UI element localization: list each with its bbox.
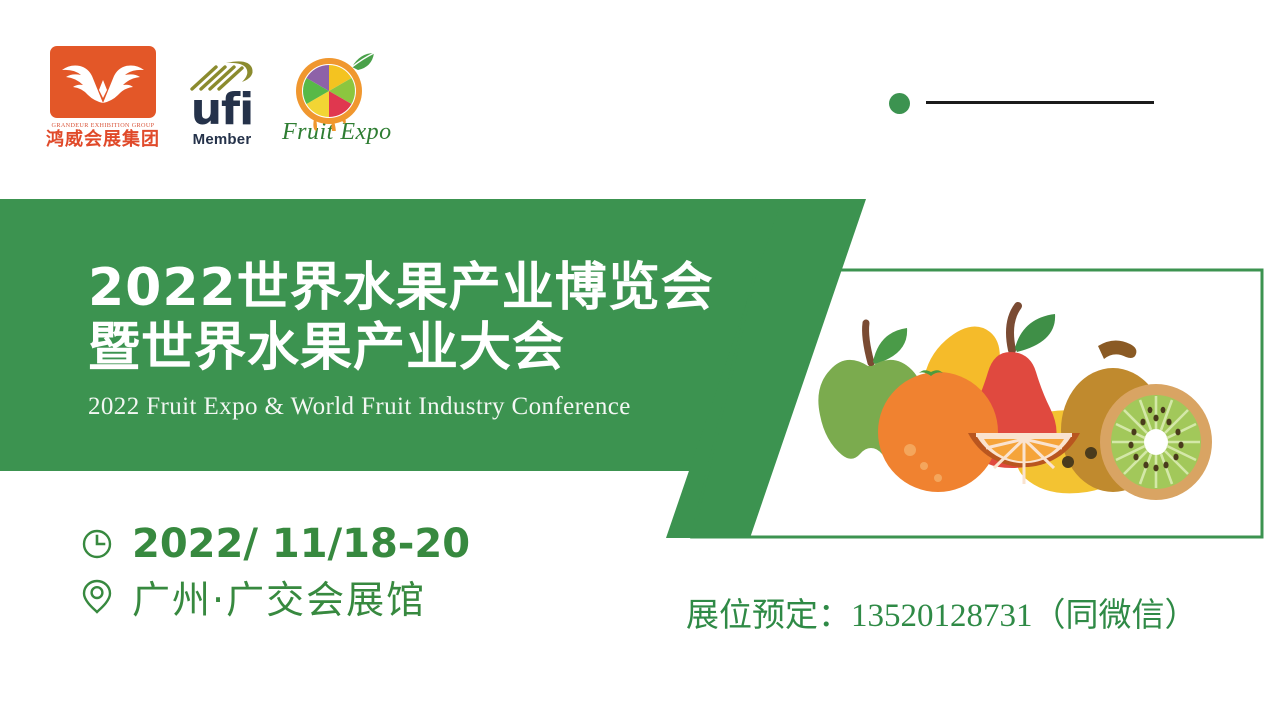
fruit-expo-logo: Fruit Expo [282, 51, 390, 150]
grandeur-chinese-name: 鸿威会展集团 [44, 130, 162, 150]
title-block: 2022世界水果产业博览会 暨世界水果产业大会 2022 Fruit Expo … [88, 258, 728, 421]
title-line-2: 暨世界水果产业大会 [88, 318, 728, 378]
title-english: 2022 Fruit Expo & World Fruit Industry C… [88, 393, 728, 421]
title-line-1: 2022世界水果产业博览会 [88, 258, 728, 318]
fruit-frame [690, 268, 1264, 539]
event-venue-row: 广州·广交会展馆 [80, 570, 550, 622]
clock-icon [80, 527, 114, 561]
kiwi-half-illustration [1100, 384, 1212, 500]
location-pin-icon [80, 579, 114, 613]
ufi-wordmark: ufi [180, 92, 264, 128]
fruit-assortment-illustration [810, 290, 1230, 520]
ufi-member-logo: ufi Member [180, 58, 264, 150]
event-date-row: 2022/ 11/18-20 [80, 518, 550, 570]
fruit-expo-wheel-icon [282, 51, 390, 129]
grandeur-wing-mark-icon [50, 46, 156, 118]
decorative-dot [889, 93, 910, 114]
event-date: 2022/ 11/18-20 [132, 521, 470, 567]
event-info: 2022/ 11/18-20 广州·广交会展馆 [80, 518, 550, 622]
promo-banner: GRANDEUR EXHIBITION GROUP 鸿威会展集团 [0, 0, 1266, 714]
event-venue: 广州·广交会展馆 [132, 569, 426, 624]
booth-booking-contact: 展位预定：13520128731（同微信） [686, 588, 1198, 636]
decorative-rule [926, 101, 1154, 104]
logo-group: GRANDEUR EXHIBITION GROUP 鸿威会展集团 [44, 46, 390, 150]
grandeur-english-name: GRANDEUR EXHIBITION GROUP [44, 122, 162, 129]
logo-bar: GRANDEUR EXHIBITION GROUP 鸿威会展集团 [0, 0, 1266, 190]
grandeur-exhibition-group-logo: GRANDEUR EXHIBITION GROUP 鸿威会展集团 [44, 46, 162, 150]
